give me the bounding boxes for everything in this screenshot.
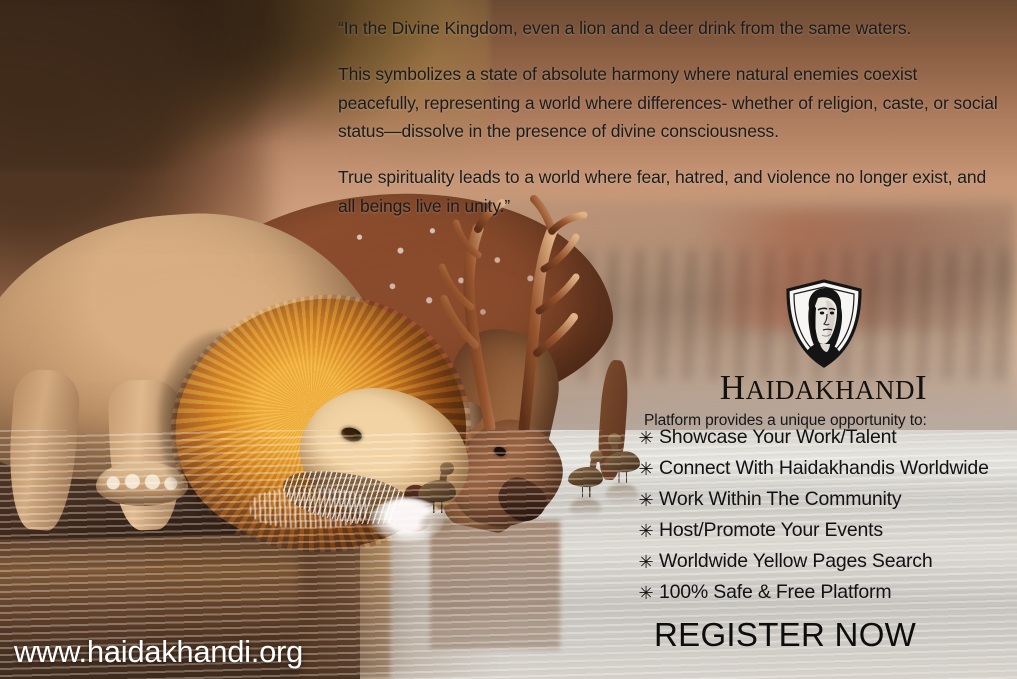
quote-paragraph-3: True spirituality leads to a world where…	[338, 163, 998, 220]
brand-block: HAIDAKHANDI Platform provides a unique o…	[636, 278, 1011, 430]
list-item: ✳ Showcase Your Work/Talent	[636, 422, 1016, 453]
brand-wordmark: HAIDAKHANDI	[636, 370, 1011, 405]
bird-head	[608, 433, 621, 445]
asterisk-bullet-icon: ✳	[636, 522, 656, 540]
asterisk-bullet-icon: ✳	[636, 491, 656, 509]
asterisk-bullet-icon: ✳	[636, 460, 656, 478]
benefit-label: Host/Promote Your Events	[659, 521, 883, 541]
poster-canvas: “In the Divine Kingdom, even a lion and …	[0, 0, 1017, 679]
list-item: ✳ Worldwide Yellow Pages Search	[636, 546, 1016, 577]
benefit-label: Work Within The Community	[659, 490, 901, 510]
asterisk-bullet-icon: ✳	[636, 429, 656, 447]
bird-legs	[579, 486, 594, 497]
logo-container[interactable]	[636, 278, 1011, 370]
water-splash-secondary	[250, 488, 370, 528]
bird-reflection	[606, 484, 638, 505]
asterisk-bullet-icon: ✳	[636, 553, 656, 571]
benefit-label: 100% Safe & Free Platform	[659, 583, 891, 603]
benefits-list: ✳ Showcase Your Work/Talent ✳ Connect Wi…	[636, 422, 1016, 608]
wordmark-initial: H	[720, 368, 746, 407]
bird-reflection	[570, 498, 601, 518]
bird-head	[590, 450, 603, 462]
bird-legs	[615, 471, 630, 482]
wordmark-final: I	[915, 368, 927, 407]
website-url[interactable]: www.haidakhandi.org	[14, 634, 303, 670]
bird-body	[568, 467, 603, 487]
benefit-label: Worldwide Yellow Pages Search	[659, 552, 933, 572]
benefit-label: Showcase Your Work/Talent	[659, 428, 896, 448]
quote-block: “In the Divine Kingdom, even a lion and …	[338, 14, 998, 220]
list-item: ✳ 100% Safe & Free Platform	[636, 577, 1016, 608]
list-item: ✳ Connect With Haidakhandis Worldwide	[636, 453, 1016, 484]
quote-paragraph-1: “In the Divine Kingdom, even a lion and …	[338, 14, 998, 42]
bird-body	[418, 480, 456, 502]
shield-logo-icon	[782, 278, 866, 370]
bird-reflection	[420, 514, 454, 536]
bird-body	[604, 451, 640, 472]
list-item: ✳ Host/Promote Your Events	[636, 515, 1016, 546]
bird-legs	[430, 501, 446, 513]
bird-head	[440, 462, 454, 475]
register-now-button[interactable]: REGISTER NOW	[654, 616, 916, 654]
wordmark-smallcaps: AIDAKHAND	[746, 375, 915, 405]
asterisk-bullet-icon: ✳	[636, 584, 656, 602]
quote-paragraph-2: This symbolizes a state of absolute harm…	[338, 60, 998, 145]
list-item: ✳ Work Within The Community	[636, 484, 1016, 515]
benefit-label: Connect With Haidakhandis Worldwide	[659, 459, 989, 479]
